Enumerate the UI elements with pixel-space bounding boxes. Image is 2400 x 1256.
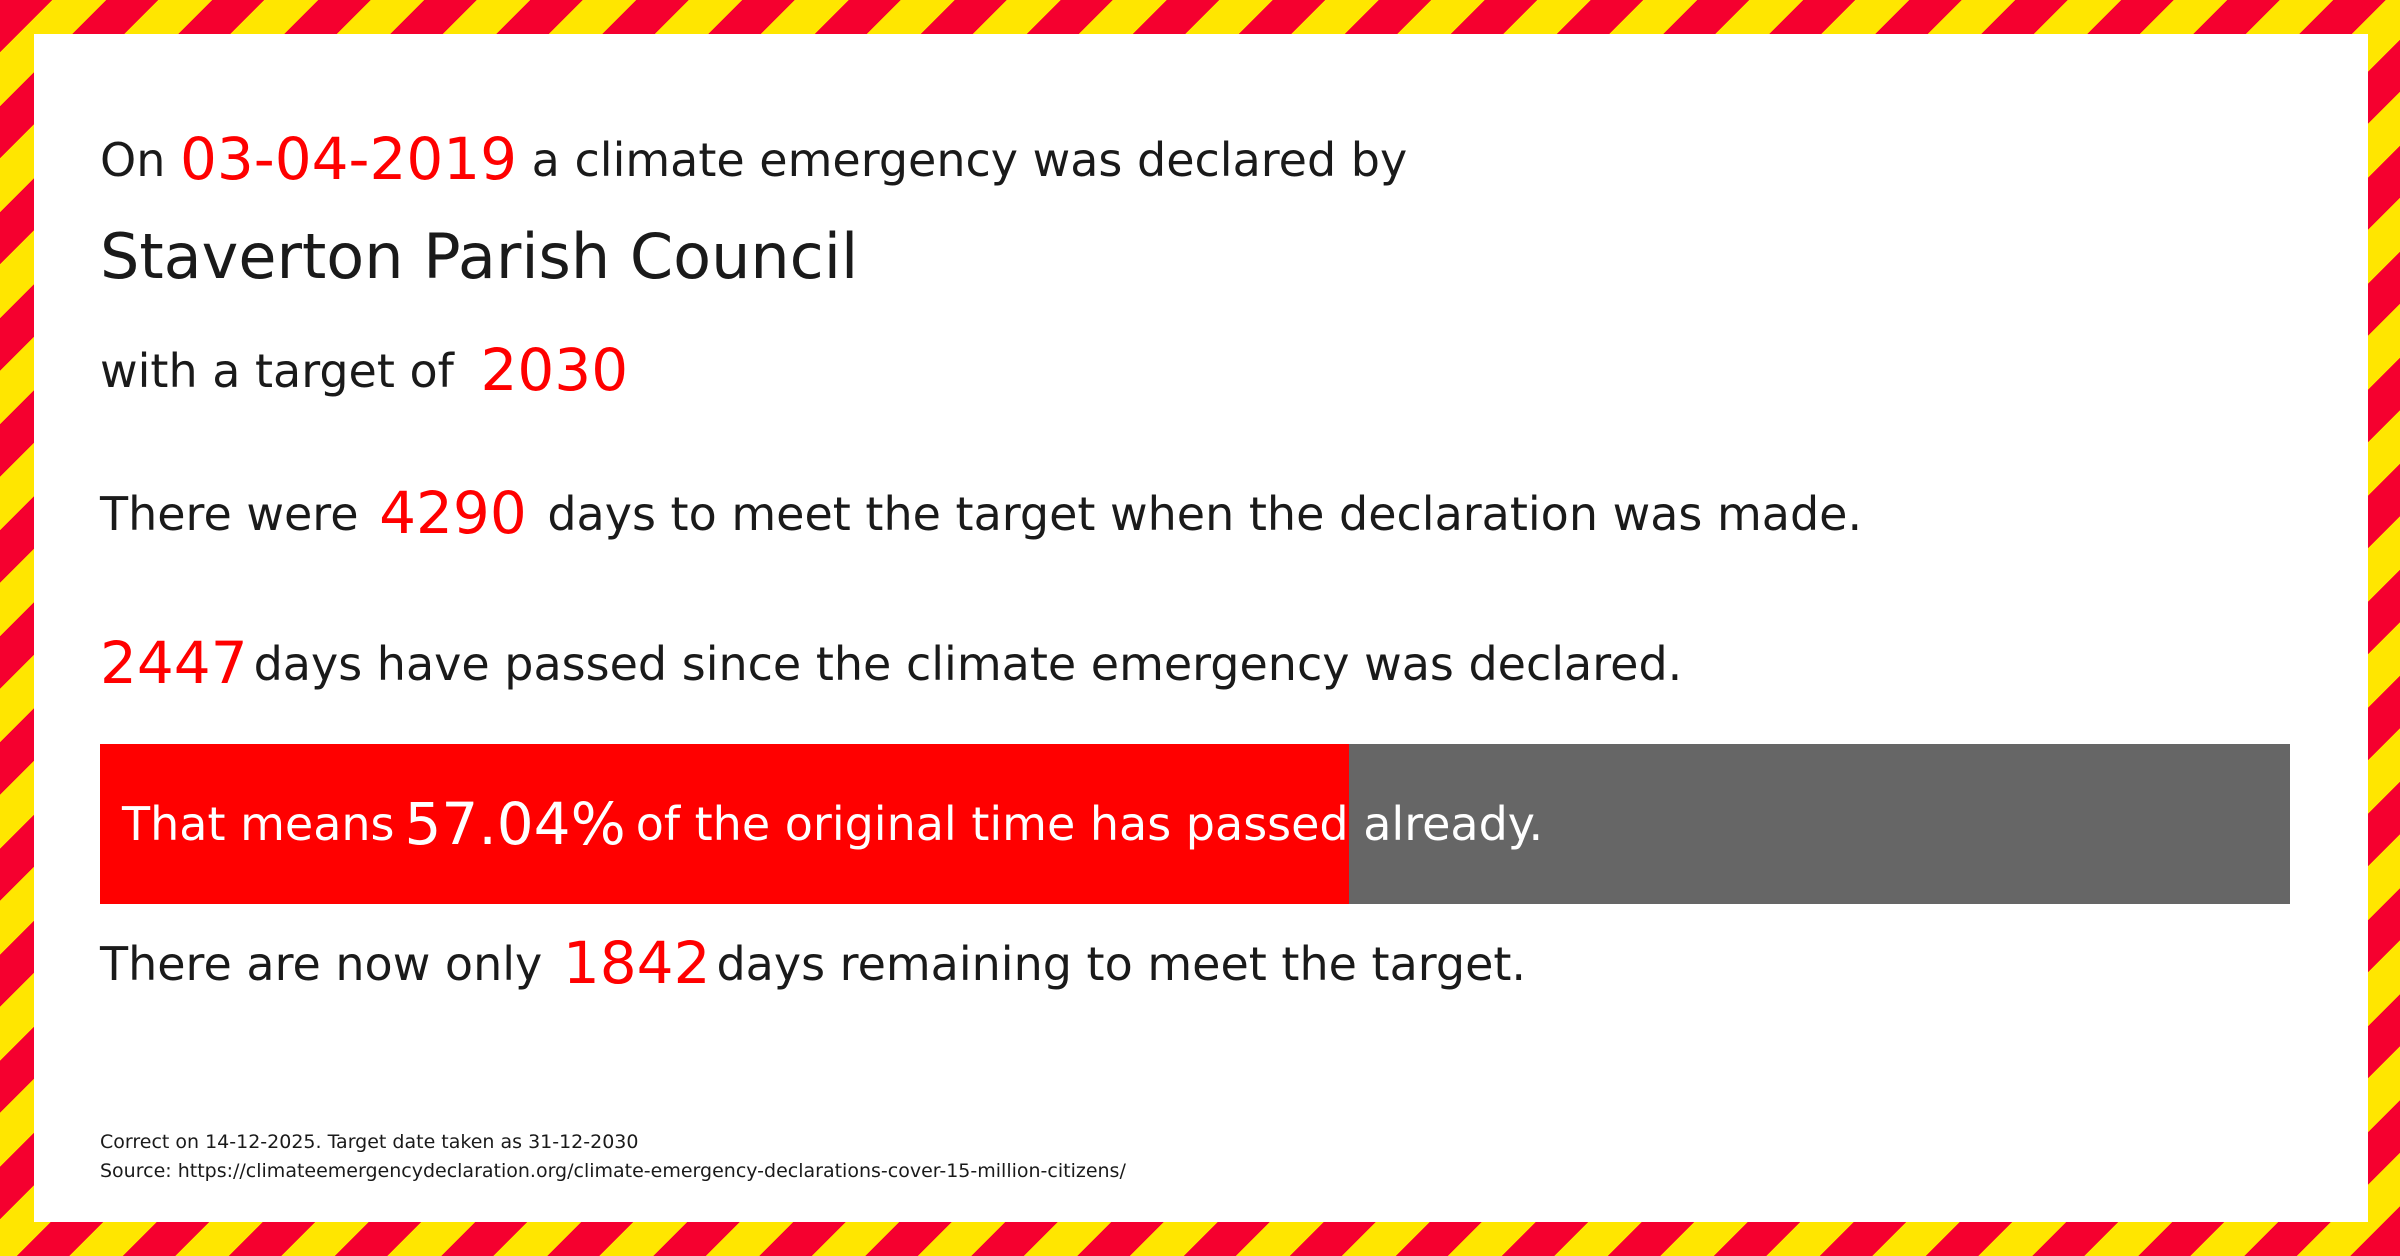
original-days-prefix: There were xyxy=(100,487,373,541)
time-progress-label: That means 57.04% of the original time h… xyxy=(122,744,1543,904)
target-line: with a target of 2030 xyxy=(100,341,628,399)
declaration-prefix: On xyxy=(100,133,180,187)
remaining-days-prefix: There are now only xyxy=(100,937,557,991)
declaration-date: 03-04-2019 xyxy=(180,125,517,193)
time-progress-bar: That means 57.04% of the original time h… xyxy=(100,744,2290,904)
declaration-line: On 03-04-2019 a climate emergency was de… xyxy=(100,130,1407,188)
original-days-value: 4290 xyxy=(373,479,533,547)
elapsed-days-value: 2447 xyxy=(100,629,254,697)
footnote-source: Source: https://climateemergencydeclarat… xyxy=(100,1157,1126,1186)
declaration-suffix: a climate emergency was declared by xyxy=(517,133,1407,187)
target-year: 2030 xyxy=(468,336,628,404)
poster-card: On 03-04-2019 a climate emergency was de… xyxy=(34,34,2368,1222)
remaining-days-line: There are now only 1842days remaining to… xyxy=(100,934,1526,992)
original-days-suffix: days to meet the target when the declara… xyxy=(533,487,1862,541)
climate-emergency-poster: On 03-04-2019 a climate emergency was de… xyxy=(0,0,2400,1256)
remaining-days-value: 1842 xyxy=(557,929,717,997)
elapsed-days-suffix: days have passed since the climate emerg… xyxy=(254,637,1683,691)
footnote-correct-on: Correct on 14-12-2025. Target date taken… xyxy=(100,1128,1126,1157)
original-days-line: There were 4290 days to meet the target … xyxy=(100,484,1862,542)
footnotes: Correct on 14-12-2025. Target date taken… xyxy=(100,1128,1126,1187)
poster-content: On 03-04-2019 a climate emergency was de… xyxy=(100,34,2328,1222)
progress-label-suffix: of the original time has passed already. xyxy=(636,797,1543,851)
target-prefix: with a target of xyxy=(100,344,468,398)
declaring-authority: Staverton Parish Council xyxy=(100,226,858,288)
elapsed-days-line: 2447days have passed since the climate e… xyxy=(100,634,1682,692)
remaining-days-suffix: days remaining to meet the target. xyxy=(716,937,1526,991)
progress-label-prefix: That means xyxy=(122,797,395,851)
progress-percent-value: 57.04% xyxy=(395,790,636,858)
